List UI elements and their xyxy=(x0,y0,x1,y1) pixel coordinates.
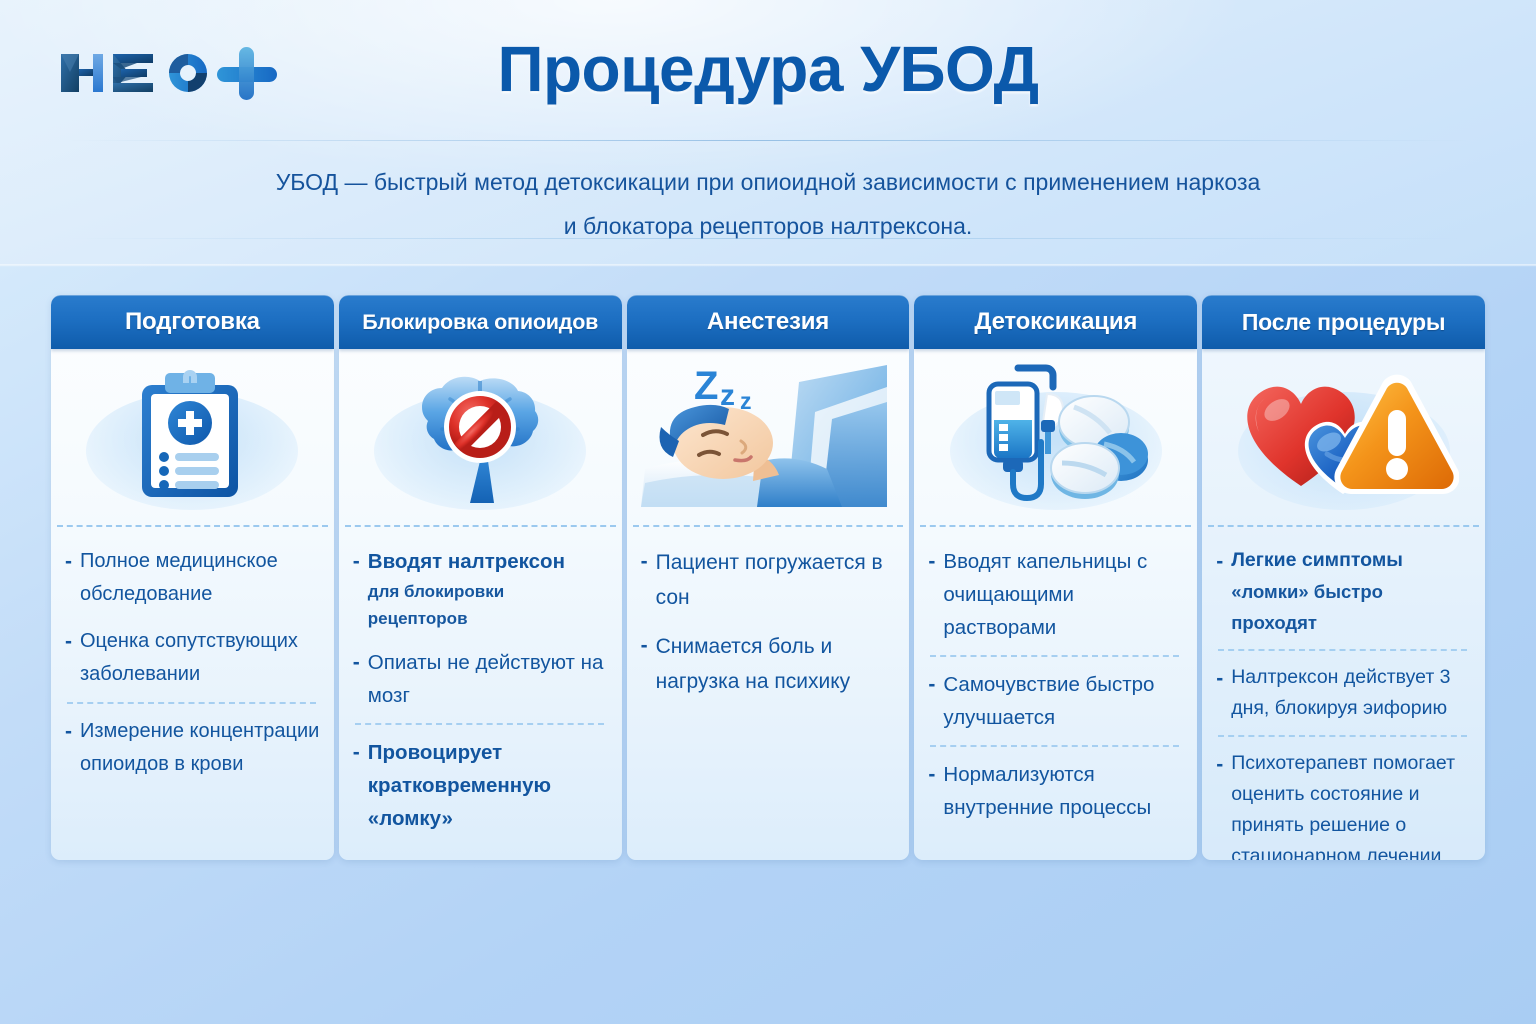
stage-bullet-list: - Пациент погружается в сон - Снимается … xyxy=(627,527,910,860)
bullet-subtext: для блокировки рецепторов xyxy=(368,578,608,632)
stage-card-detoxification[interactable]: Детоксикация xyxy=(914,295,1197,860)
stage-card-header: Подготовка xyxy=(51,295,334,349)
bullet-gap xyxy=(65,611,320,625)
bullet-subtext: «ломки» быстро проходят xyxy=(1231,576,1471,638)
bullet-text: Опиаты не действуют на мозг xyxy=(368,646,608,712)
bullet-gap xyxy=(353,632,608,646)
stage-card-opioid-blocking[interactable]: Блокировка опиоидов xyxy=(339,295,622,860)
stage-icon-zone xyxy=(51,349,334,525)
brain-blocked-icon xyxy=(390,365,570,510)
bullet-dash: - xyxy=(641,545,648,615)
bullet-dash: - xyxy=(65,625,72,691)
stage-bullet-list: - Полное медицинское обследование - Оцен… xyxy=(51,527,334,860)
bullet-dash: - xyxy=(1216,748,1223,860)
list-item: - Провоцирует кратковременную «ломку» xyxy=(353,736,608,835)
stage-bullet-list: - Легкие симптомы «ломки» быстро проходя… xyxy=(1202,527,1485,860)
bullet-separator xyxy=(1218,735,1467,737)
list-item: - Нормализуются внутренние процессы xyxy=(928,758,1183,824)
bullet-gap xyxy=(641,615,896,629)
list-item: - Психотерапевт помогает оценить состоян… xyxy=(1216,748,1471,860)
bullet-text: Пациент погружается в сон xyxy=(656,545,896,615)
bullet-separator xyxy=(930,745,1179,747)
stage-cards-row: Подготовка xyxy=(51,295,1485,860)
clipboard-medical-icon xyxy=(117,367,267,507)
stage-card-preparation[interactable]: Подготовка xyxy=(51,295,334,860)
bullet-text-strong: Вводят налтрексон xyxy=(368,550,565,573)
stage-card-title: Блокировка опиоидов xyxy=(362,310,598,335)
bullet-separator xyxy=(67,702,316,704)
bullet-text: Вводят капельницы с очищающими растворам… xyxy=(943,545,1183,644)
bullet-separator xyxy=(930,655,1179,657)
hearts-warning-icon xyxy=(1229,362,1459,512)
list-item: - Вводят налтрексон для блокировки рецеп… xyxy=(353,545,608,632)
stage-icon-zone xyxy=(339,349,622,525)
list-item: - Налтрексон действует 3 дня, блокируя э… xyxy=(1216,662,1471,724)
stage-card-title: Детоксикация xyxy=(974,308,1137,336)
stage-card-title: После процедуры xyxy=(1242,309,1446,336)
subtitle-line-1: УБОД — быстрый метод детоксикации при оп… xyxy=(168,160,1368,204)
bullet-dash: - xyxy=(928,668,935,734)
bullet-text: Измерение концентрации опиоидов в крови xyxy=(80,715,320,781)
stage-card-title: Анестезия xyxy=(707,308,829,336)
subtitle-divider xyxy=(68,238,1468,239)
bullet-dash: - xyxy=(928,758,935,824)
background-seam xyxy=(0,264,1536,267)
stage-card-title: Подготовка xyxy=(125,308,260,336)
stage-card-header: Блокировка опиоидов xyxy=(339,295,622,349)
list-item: - Измерение концентрации опиоидов в кров… xyxy=(65,715,320,781)
sleeping-patient-icon: Z z z xyxy=(637,357,899,517)
list-item: - Полное медицинское обследование xyxy=(65,545,320,611)
list-item: - Вводят капельницы с очищающими раствор… xyxy=(928,545,1183,644)
subtitle-line-2: и блокатора рецепторов налтрексона. xyxy=(168,204,1368,248)
title-divider xyxy=(68,140,1468,141)
bullet-dash: - xyxy=(1216,662,1223,724)
stage-bullet-list: - Вводят налтрексон для блокировки рецеп… xyxy=(339,527,622,860)
page-subtitle: УБОД — быстрый метод детоксикации при оп… xyxy=(168,160,1368,248)
stage-card-header: Детоксикация xyxy=(914,295,1197,349)
bullet-separator xyxy=(1218,649,1467,651)
bullet-dash: - xyxy=(641,629,648,699)
bullet-dash: - xyxy=(65,545,72,611)
stage-icon-zone xyxy=(1202,349,1485,525)
bullet-text: Полное медицинское обследование xyxy=(80,545,320,611)
list-item: - Легкие симптомы «ломки» быстро проходя… xyxy=(1216,545,1471,638)
bullet-dash: - xyxy=(928,545,935,644)
list-item: - Снимается боль и нагрузка на психику xyxy=(641,629,896,699)
bullet-text: Психотерапевт помогает оценить состояние… xyxy=(1231,748,1471,860)
stage-bullet-list: - Вводят капельницы с очищающими раствор… xyxy=(914,527,1197,860)
bullet-text: Провоцирует кратковременную «ломку» xyxy=(368,736,608,835)
stage-card-header: После процедуры xyxy=(1202,295,1485,349)
bullet-text-strong: Провоцирует кратковременную «ломку» xyxy=(368,741,551,830)
bullet-separator xyxy=(355,723,604,725)
bullet-text: Оценка сопутствующих заболевании xyxy=(80,625,320,691)
bullet-text: Легкие симптомы «ломки» быстро проходят xyxy=(1231,545,1471,638)
iv-drip-pills-icon xyxy=(961,362,1151,512)
bullet-text: Нормализуются внутренние процессы xyxy=(943,758,1183,824)
bullet-text: Вводят налтрексон для блокировки рецепто… xyxy=(368,545,608,632)
zzz-label: Z xyxy=(694,364,718,408)
bullet-dash: - xyxy=(1216,545,1223,638)
stage-card-header: Анестезия xyxy=(627,295,910,349)
list-item: - Самочувствие быстро улучшается xyxy=(928,668,1183,734)
list-item: - Опиаты не действуют на мозг xyxy=(353,646,608,712)
stage-card-anesthesia[interactable]: Анестезия xyxy=(627,295,910,860)
bullet-dash: - xyxy=(65,715,72,781)
bullet-text: Самочувствие быстро улучшается xyxy=(943,668,1183,734)
bullet-text-strong: Легкие симптомы xyxy=(1231,549,1403,571)
bullet-dash: - xyxy=(353,545,360,632)
stage-icon-zone xyxy=(914,349,1197,525)
bullet-dash: - xyxy=(353,646,360,712)
bullet-text: Снимается боль и нагрузка на психику xyxy=(656,629,896,699)
stage-card-after-procedure[interactable]: После процедуры xyxy=(1202,295,1485,860)
page-title: Процедура УБОД xyxy=(0,32,1536,106)
list-item: - Оценка сопутствующих заболевании xyxy=(65,625,320,691)
stage-icon-zone: Z z z xyxy=(627,349,910,525)
list-item: - Пациент погружается в сон xyxy=(641,545,896,615)
bullet-dash: - xyxy=(353,736,360,835)
bullet-text: Налтрексон действует 3 дня, блокируя эиф… xyxy=(1231,662,1471,724)
